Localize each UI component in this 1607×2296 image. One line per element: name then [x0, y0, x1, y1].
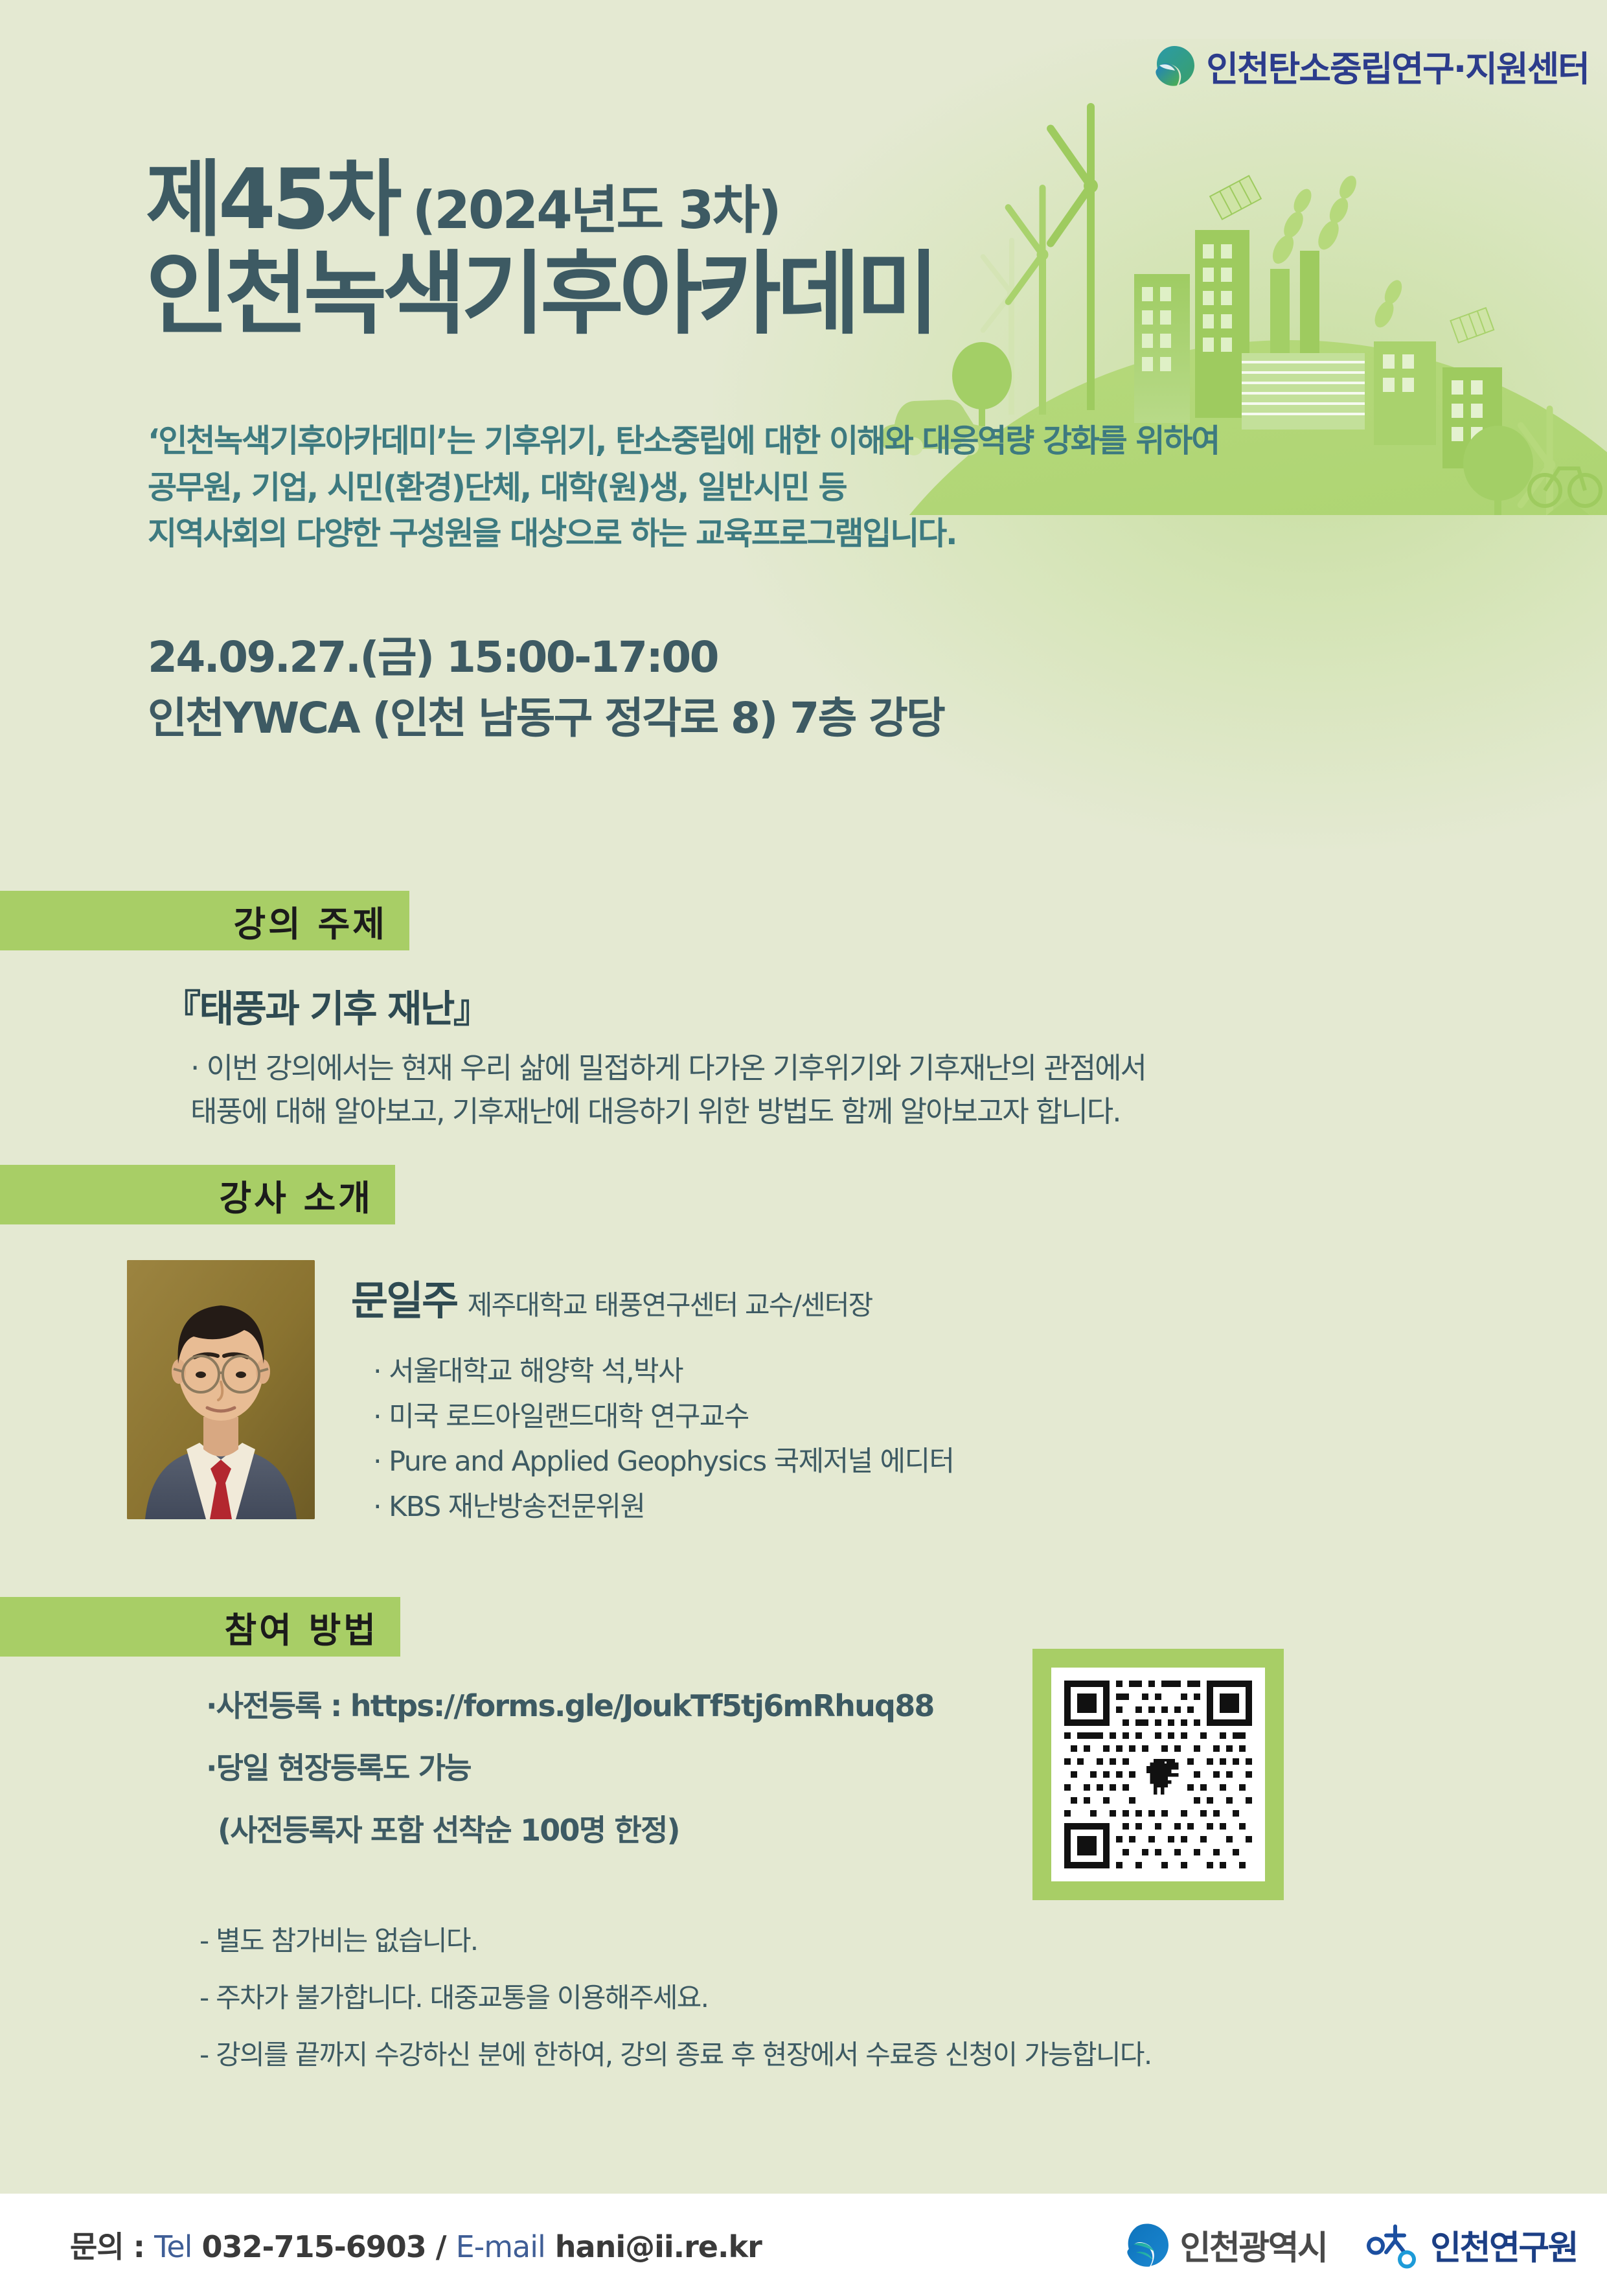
contact-line: 문의 : Tel 032-715-6903 / E-mail hani@ii.r…: [70, 2223, 762, 2266]
lecturer-photo: [127, 1260, 315, 1519]
footer: 문의 : Tel 032-715-6903 / E-mail hani@ii.r…: [0, 2194, 1607, 2296]
qr-code-image[interactable]: [1051, 1668, 1265, 1881]
schedule-venue: 인천YWCA (인천 남동구 정각로 8) 7층 강당: [148, 688, 944, 749]
lecturer-section: 문일주 제주대학교 태풍연구센터 교수/센터장 서울대학교 해양학 석,박사 미…: [127, 1260, 953, 1530]
qr-matrix: [1051, 1668, 1265, 1881]
title-edition: 제45차: [146, 159, 398, 242]
incheon-institute-logo-text: 인천연구원: [1430, 2221, 1577, 2269]
intro-line-2: 공무원, 기업, 시민(환경)단체, 대학(원)생, 일반시민 등: [148, 465, 1219, 511]
schedule-block: 24.09.27.(금) 15:00-17:00 인천YWCA (인천 남동구 …: [148, 627, 944, 748]
incheon-institute-logo: 인천연구원: [1362, 2221, 1577, 2269]
incheon-city-mark-icon: [1123, 2221, 1171, 2269]
howto-onsite-line: ·당일 현장등록도 가능: [206, 1753, 934, 1783]
leaf-circle-icon: [1152, 43, 1197, 89]
section-badge-howto-label: 참여 방법: [224, 1601, 378, 1653]
list-item: Pure and Applied Geophysics 국제저널 에디터: [373, 1440, 953, 1485]
footer-logos: 인천광역시 인천연구원: [1123, 2221, 1577, 2269]
section-badge-howto: 참여 방법: [0, 1597, 400, 1657]
intro-line-1: ‘인천녹색기후아카데미’는 기후위기, 탄소중립에 대한 이해와 대응역량 강화…: [148, 418, 1219, 465]
title-round: (2024년도 3차): [413, 185, 780, 236]
intro-paragraph: ‘인천녹색기후아카데미’는 기후위기, 탄소중립에 대한 이해와 대응역량 강화…: [148, 418, 1219, 557]
registration-qr-code[interactable]: [1032, 1649, 1284, 1900]
contact-prefix: 문의 :: [70, 2229, 154, 2264]
notes-list: - 별도 참가비는 없습니다. - 주차가 불가합니다. 대중교통을 이용해주세…: [199, 1927, 1151, 2098]
topic-section: 『태풍과 기후 재난』 · 이번 강의에서는 현재 우리 삶에 밀접하게 다가온…: [163, 978, 1146, 1133]
lecturer-name-row: 문일주 제주대학교 태풍연구센터 교수/센터장: [351, 1268, 953, 1326]
lecturer-credentials-list: 서울대학교 해양학 석,박사 미국 로드아일랜드대학 연구교수 Pure and…: [351, 1349, 953, 1530]
note-item: - 강의를 끝까지 수강하신 분에 한하여, 강의 종료 후 현장에서 수료증 …: [199, 2041, 1151, 2069]
lecturer-affiliation: 제주대학교 태풍연구센터 교수/센터장: [468, 1283, 872, 1323]
section-badge-lecturer-label: 강사 소개: [219, 1169, 373, 1221]
incheon-institute-mark-icon: [1362, 2221, 1421, 2269]
title-block: 제45차 (2024년도 3차) 인천녹색기후아카데미: [146, 159, 935, 343]
org-logo: 인천탄소중립연구·지원센터: [1152, 40, 1589, 91]
list-item: 서울대학교 해양학 석,박사: [373, 1349, 953, 1395]
note-item: - 주차가 불가합니다. 대중교통을 이용해주세요.: [199, 1984, 1151, 2012]
list-item: KBS 재난방송전문위원: [373, 1485, 953, 1530]
poster-canvas: 인천탄소중립연구·지원센터 제45차 (2024년도 3차) 인천녹색기후아카데…: [0, 0, 1607, 2296]
list-item: 미국 로드아일랜드대학 연구교수: [373, 1395, 953, 1440]
lecturer-info: 문일주 제주대학교 태풍연구센터 교수/센터장 서울대학교 해양학 석,박사 미…: [351, 1260, 953, 1530]
incheon-city-logo: 인천광역시: [1123, 2221, 1327, 2269]
howto-capacity-line: (사전등록자 포함 선착순 100명 한정): [206, 1815, 934, 1845]
title-line-1: 제45차 (2024년도 3차): [146, 159, 935, 242]
email-value[interactable]: hani@ii.re.kr: [545, 2229, 762, 2264]
howto-preregister-line[interactable]: ·사전등록 : https://forms.gle/JoukTf5tj6mRhu…: [206, 1691, 934, 1721]
section-badge-topic: 강의 주제: [0, 891, 409, 950]
org-logo-text: 인천탄소중립연구·지원센터: [1206, 40, 1589, 91]
contact-separator: /: [436, 2229, 456, 2264]
tel-value[interactable]: 032-715-6903: [192, 2229, 435, 2264]
tel-label: Tel: [154, 2229, 192, 2264]
incheon-city-logo-text: 인천광역시: [1180, 2221, 1327, 2269]
note-item: - 별도 참가비는 없습니다.: [199, 1927, 1151, 1955]
topic-desc-line-2: 태풍에 대해 알아보고, 기후재난에 대응하기 위한 방법도 함께 알아보고자 …: [163, 1090, 1146, 1134]
section-badge-lecturer: 강사 소개: [0, 1165, 395, 1224]
howto-section: ·사전등록 : https://forms.gle/JoukTf5tj6mRhu…: [206, 1691, 934, 1877]
intro-line-3: 지역사회의 다양한 구성원을 대상으로 하는 교육프로그램입니다.: [148, 511, 1219, 557]
schedule-datetime: 24.09.27.(금) 15:00-17:00: [148, 627, 944, 688]
lecturer-name: 문일주: [351, 1268, 457, 1326]
email-label: E-mail: [456, 2229, 545, 2264]
title-program: 인천녹색기후아카데미: [146, 246, 935, 343]
topic-desc-line-1: · 이번 강의에서는 현재 우리 삶에 밀접하게 다가온 기후위기와 기후재난의…: [163, 1047, 1146, 1090]
topic-title: 『태풍과 기후 재난』: [163, 978, 1146, 1033]
section-badge-topic-label: 강의 주제: [233, 895, 387, 947]
